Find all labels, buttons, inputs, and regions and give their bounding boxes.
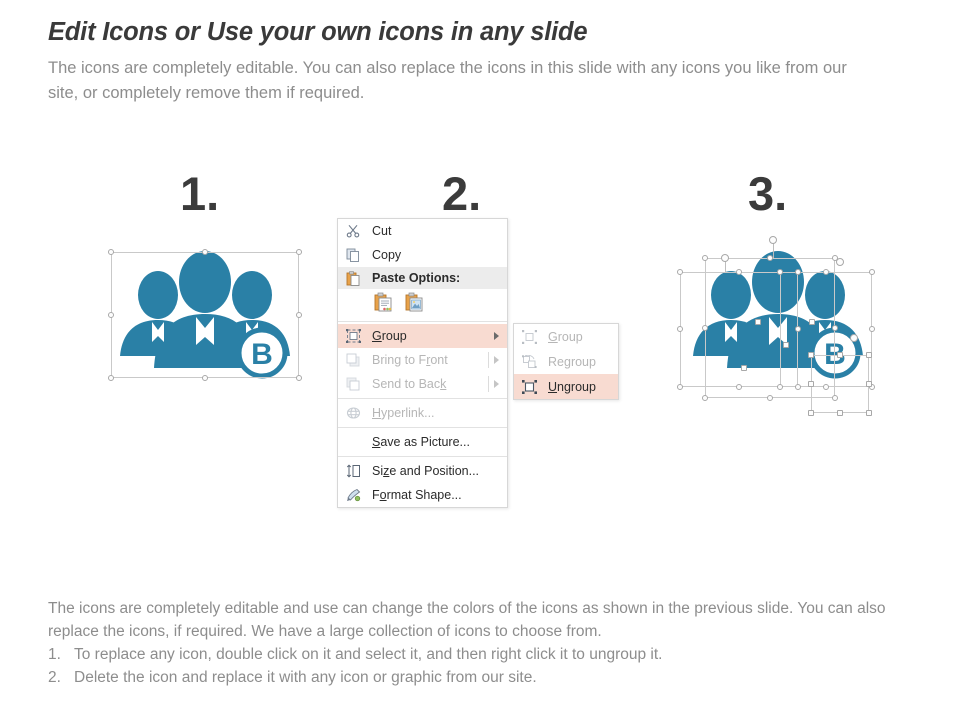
selection-handle[interactable] bbox=[832, 255, 838, 261]
selection-handle[interactable] bbox=[296, 312, 302, 318]
selection-handle[interactable] bbox=[832, 395, 838, 401]
paste-options-row[interactable] bbox=[338, 289, 507, 319]
selection-handle[interactable] bbox=[866, 352, 872, 358]
selection-handle[interactable] bbox=[677, 326, 683, 332]
chevron-right-icon bbox=[494, 332, 499, 340]
selection-handle[interactable] bbox=[808, 352, 814, 358]
selection-handle[interactable] bbox=[777, 269, 783, 275]
menu-divider bbox=[338, 398, 507, 399]
selection-handle[interactable] bbox=[677, 384, 683, 390]
send-to-back-icon bbox=[342, 374, 364, 394]
submenu-item-regroup: Regroup bbox=[514, 349, 618, 374]
group-icon bbox=[518, 327, 540, 347]
selection-handle[interactable] bbox=[866, 381, 872, 387]
selection-handle[interactable] bbox=[795, 326, 801, 332]
menu-item-label: Save as Picture... bbox=[364, 435, 470, 449]
slide-canvas: Edit Icons or Use your own icons in any … bbox=[0, 0, 960, 720]
selection-handle[interactable] bbox=[296, 375, 302, 381]
selection-handle[interactable] bbox=[869, 326, 875, 332]
menu-item-separator bbox=[488, 352, 489, 368]
group-submenu[interactable]: Group Regroup bbox=[513, 323, 619, 400]
menu-item-send-to-back: Send to Back bbox=[338, 372, 507, 396]
menu-item-group[interactable]: Group bbox=[338, 324, 507, 348]
selection-handle[interactable] bbox=[296, 249, 302, 255]
chevron-right-icon bbox=[494, 380, 499, 388]
menu-item-cut[interactable]: Cut bbox=[338, 219, 507, 243]
footer-text: The icons are completely editable and us… bbox=[48, 598, 932, 689]
selection-handle[interactable] bbox=[808, 381, 814, 387]
selection-handle[interactable] bbox=[777, 384, 783, 390]
list-item-number: 2. bbox=[48, 667, 74, 690]
page-subtitle: The icons are completely editable. You c… bbox=[48, 56, 878, 106]
submenu-item-ungroup[interactable]: Ungroup bbox=[514, 374, 618, 399]
rotation-handle[interactable] bbox=[850, 334, 858, 342]
list-item-text: To replace any icon, double click on it … bbox=[74, 644, 662, 667]
selection-handle[interactable] bbox=[108, 312, 114, 318]
selection-handle[interactable] bbox=[837, 410, 843, 416]
hyperlink-icon bbox=[342, 403, 364, 423]
menu-item-paste-options: Paste Options: bbox=[338, 267, 507, 289]
rotation-handle[interactable] bbox=[721, 254, 729, 262]
list-item: 1. To replace any icon, double click on … bbox=[48, 644, 932, 667]
size-position-icon bbox=[342, 461, 364, 481]
menu-divider bbox=[338, 321, 507, 322]
menu-divider bbox=[338, 456, 507, 457]
paste-as-picture-icon[interactable] bbox=[405, 292, 424, 317]
menu-item-format-shape[interactable]: Format Shape... bbox=[338, 483, 507, 507]
footer-list: 1. To replace any icon, double click on … bbox=[48, 644, 932, 689]
menu-divider bbox=[338, 427, 507, 428]
selection-handle[interactable] bbox=[736, 384, 742, 390]
selection-handle[interactable] bbox=[832, 325, 838, 331]
footer-lead: The icons are completely editable and us… bbox=[48, 598, 932, 643]
selection-handle[interactable] bbox=[677, 269, 683, 275]
selection-handle[interactable] bbox=[108, 375, 114, 381]
page-title: Edit Icons or Use your own icons in any … bbox=[48, 18, 587, 47]
menu-item-label: Cut bbox=[364, 224, 391, 238]
context-menu[interactable]: Cut Copy Paste Options: bbox=[337, 218, 508, 508]
selection-handle[interactable] bbox=[767, 395, 773, 401]
scissors-icon bbox=[342, 221, 364, 241]
selection-box-step1[interactable] bbox=[111, 252, 299, 378]
list-item-number: 1. bbox=[48, 644, 74, 667]
menu-item-size-and-position[interactable]: Size and Position... bbox=[338, 459, 507, 483]
menu-item-save-as-picture[interactable]: Save as Picture... bbox=[338, 430, 507, 454]
menu-item-label: Hyperlink... bbox=[364, 406, 435, 420]
paste-keep-source-formatting-icon[interactable] bbox=[374, 292, 393, 317]
menu-item-hyperlink: Hyperlink... bbox=[338, 401, 507, 425]
selection-handle[interactable] bbox=[702, 255, 708, 261]
selection-handle[interactable] bbox=[755, 319, 761, 325]
selection-handle[interactable] bbox=[823, 384, 829, 390]
selection-handle[interactable] bbox=[808, 410, 814, 416]
selection-handle[interactable] bbox=[202, 249, 208, 255]
no-icon bbox=[342, 432, 364, 452]
paste-icon bbox=[342, 268, 364, 288]
selection-handle[interactable] bbox=[202, 375, 208, 381]
list-item-text: Delete the icon and replace it with any … bbox=[74, 667, 537, 690]
bring-to-front-icon bbox=[342, 350, 364, 370]
selection-handle[interactable] bbox=[795, 384, 801, 390]
selection-handle[interactable] bbox=[837, 352, 843, 358]
selection-handle[interactable] bbox=[108, 249, 114, 255]
selection-handle[interactable] bbox=[736, 269, 742, 275]
selection-handle[interactable] bbox=[866, 410, 872, 416]
step-number-3: 3. bbox=[748, 170, 787, 217]
selection-handle[interactable] bbox=[702, 325, 708, 331]
group-icon bbox=[342, 326, 364, 346]
selection-handle[interactable] bbox=[795, 269, 801, 275]
menu-item-label: Format Shape... bbox=[364, 488, 462, 502]
submenu-item-label: Ungroup bbox=[540, 380, 596, 394]
selection-handle[interactable] bbox=[809, 319, 815, 325]
step-number-1: 1. bbox=[180, 170, 219, 217]
menu-item-bring-to-front: Bring to Front bbox=[338, 348, 507, 372]
menu-item-label: Bring to Front bbox=[364, 353, 448, 367]
menu-item-label: Send to Back bbox=[364, 377, 446, 391]
selection-handle[interactable] bbox=[783, 342, 789, 348]
selection-handle[interactable] bbox=[741, 365, 747, 371]
selection-handle[interactable] bbox=[767, 255, 773, 261]
menu-item-separator bbox=[488, 376, 489, 392]
selection-handle[interactable] bbox=[869, 269, 875, 275]
chevron-right-icon bbox=[494, 356, 499, 364]
menu-item-label: Group bbox=[364, 329, 407, 343]
ungroup-icon bbox=[518, 377, 540, 397]
submenu-item-label: Regroup bbox=[540, 355, 596, 369]
list-item: 2. Delete the icon and replace it with a… bbox=[48, 667, 932, 690]
step-number-2: 2. bbox=[442, 170, 481, 217]
menu-item-copy[interactable]: Copy bbox=[338, 243, 507, 267]
submenu-item-label: Group bbox=[540, 330, 583, 344]
selection-handle[interactable] bbox=[823, 269, 829, 275]
menu-item-label: Paste Options: bbox=[364, 271, 460, 285]
menu-item-label: Size and Position... bbox=[364, 464, 479, 478]
selection-box-badge[interactable] bbox=[811, 355, 869, 413]
format-shape-icon bbox=[342, 485, 364, 505]
menu-item-label: Copy bbox=[364, 248, 401, 262]
rotation-handle[interactable] bbox=[769, 236, 777, 244]
copy-icon bbox=[342, 245, 364, 265]
selection-handle[interactable] bbox=[702, 395, 708, 401]
regroup-icon bbox=[518, 352, 540, 372]
submenu-item-group: Group bbox=[514, 324, 618, 349]
